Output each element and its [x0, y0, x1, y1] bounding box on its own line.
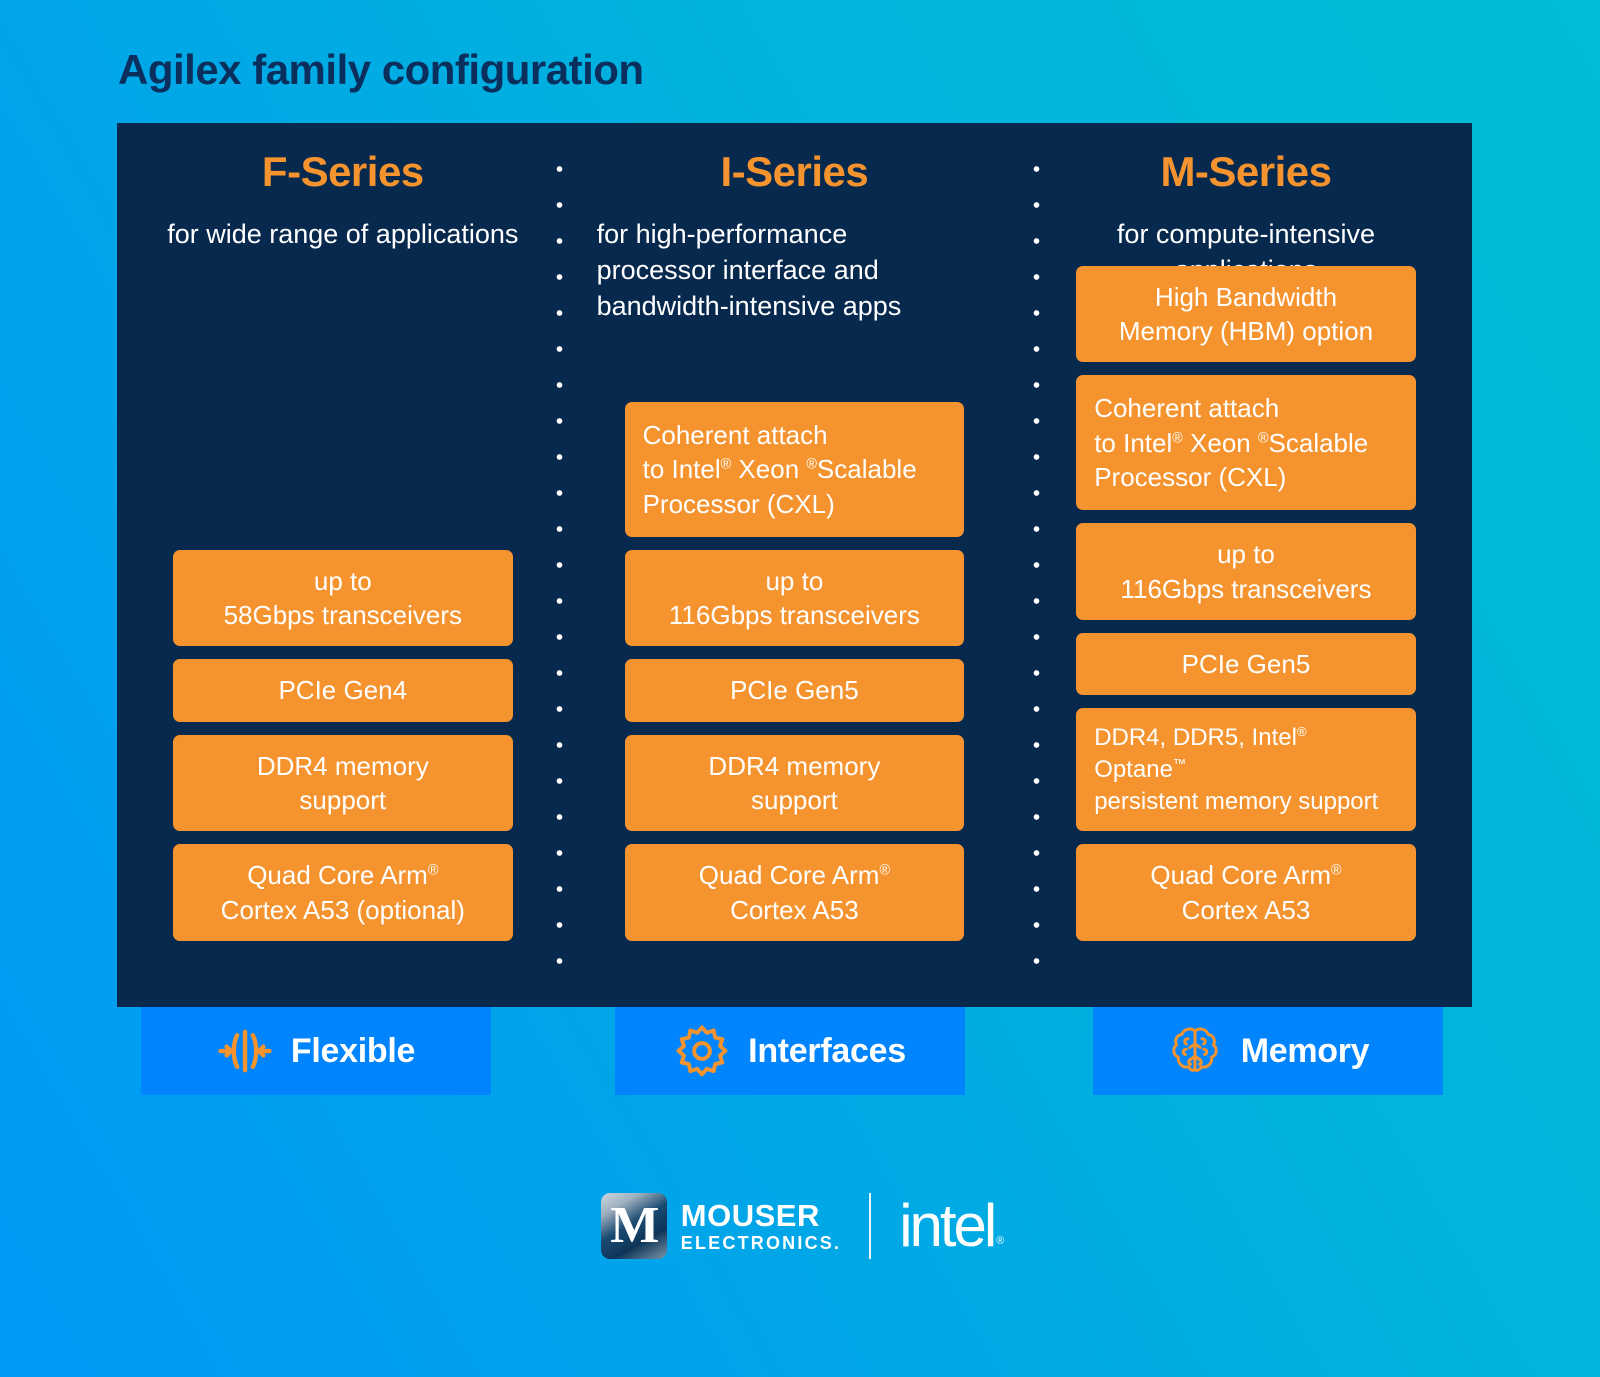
footer-logos: M MOUSER ELECTRONICS. intel®	[0, 1193, 1600, 1259]
page-title: Agilex family configuration	[118, 46, 644, 94]
tab-label: Interfaces	[748, 1032, 906, 1071]
mouser-subtitle: ELECTRONICS.	[681, 1234, 841, 1252]
feature-box: DDR4, DDR5, Intel® Optane™persistent mem…	[1076, 708, 1416, 831]
category-tabs: Flexible Interfaces	[117, 1007, 1472, 1095]
feature-box: Quad Core Arm®Cortex A53	[625, 844, 965, 941]
series-columns: F-Series for wide range of applications …	[117, 123, 1472, 1007]
column-title-m: M-Series	[1048, 149, 1444, 195]
mouser-name: MOUSER	[681, 1200, 841, 1231]
feature-box: up to58Gbps transceivers	[173, 550, 513, 647]
flexible-arrows-icon	[217, 1023, 273, 1079]
logo-divider	[869, 1193, 871, 1259]
column-title-f: F-Series	[145, 149, 541, 195]
feature-list-f: up to58Gbps transceivers PCIe Gen4 DDR4 …	[173, 550, 513, 941]
intel-logo: intel®	[899, 1196, 999, 1256]
feature-box: Quad Core Arm®Cortex A53	[1076, 844, 1416, 941]
feature-box: DDR4 memorysupport	[173, 735, 513, 832]
feature-box: Coherent attachto Intel® Xeon ®ScalableP…	[1076, 375, 1416, 510]
intel-wordmark: intel	[899, 1192, 994, 1259]
mouser-m-mark: M	[601, 1193, 667, 1259]
tab-label: Memory	[1241, 1032, 1370, 1071]
feature-box: PCIe Gen5	[625, 659, 965, 721]
column-i-series: I-Series for high-performanceprocessor i…	[569, 123, 1021, 1007]
feature-box: High BandwidthMemory (HBM) option	[1076, 266, 1416, 363]
feature-box: up to116Gbps transceivers	[625, 550, 965, 647]
column-m-series: M-Series for compute-intensiveapplicatio…	[1020, 123, 1472, 1007]
column-f-series: F-Series for wide range of applications …	[117, 123, 569, 1007]
gear-icon	[674, 1023, 730, 1079]
feature-list-m: High BandwidthMemory (HBM) option Cohere…	[1076, 266, 1416, 941]
feature-box: PCIe Gen5	[1076, 633, 1416, 695]
tab-label: Flexible	[291, 1032, 415, 1071]
mouser-wordmark: MOUSER ELECTRONICS.	[681, 1200, 841, 1252]
mouser-logo: M MOUSER ELECTRONICS.	[601, 1193, 841, 1259]
column-description-i: for high-performanceprocessor interface …	[597, 217, 993, 325]
feature-box: PCIe Gen4	[173, 659, 513, 721]
feature-box: up to116Gbps transceivers	[1076, 523, 1416, 620]
feature-box: Coherent attachto Intel® Xeon ®ScalableP…	[625, 402, 965, 537]
feature-box: DDR4 memorysupport	[625, 735, 965, 832]
tab-interfaces[interactable]: Interfaces	[615, 1007, 965, 1095]
column-description-f: for wide range of applications	[145, 217, 541, 253]
tab-flexible[interactable]: Flexible	[141, 1007, 491, 1095]
brain-icon	[1167, 1023, 1223, 1079]
comparison-panel: F-Series for wide range of applications …	[117, 123, 1472, 1007]
tab-memory[interactable]: Memory	[1093, 1007, 1443, 1095]
feature-box: Quad Core Arm®Cortex A53 (optional)	[173, 844, 513, 941]
column-title-i: I-Series	[597, 149, 993, 195]
feature-list-i: Coherent attachto Intel® Xeon ®ScalableP…	[625, 402, 965, 941]
mouser-mark-letter: M	[610, 1200, 657, 1252]
intel-registered-mark: ®	[996, 1235, 1001, 1247]
